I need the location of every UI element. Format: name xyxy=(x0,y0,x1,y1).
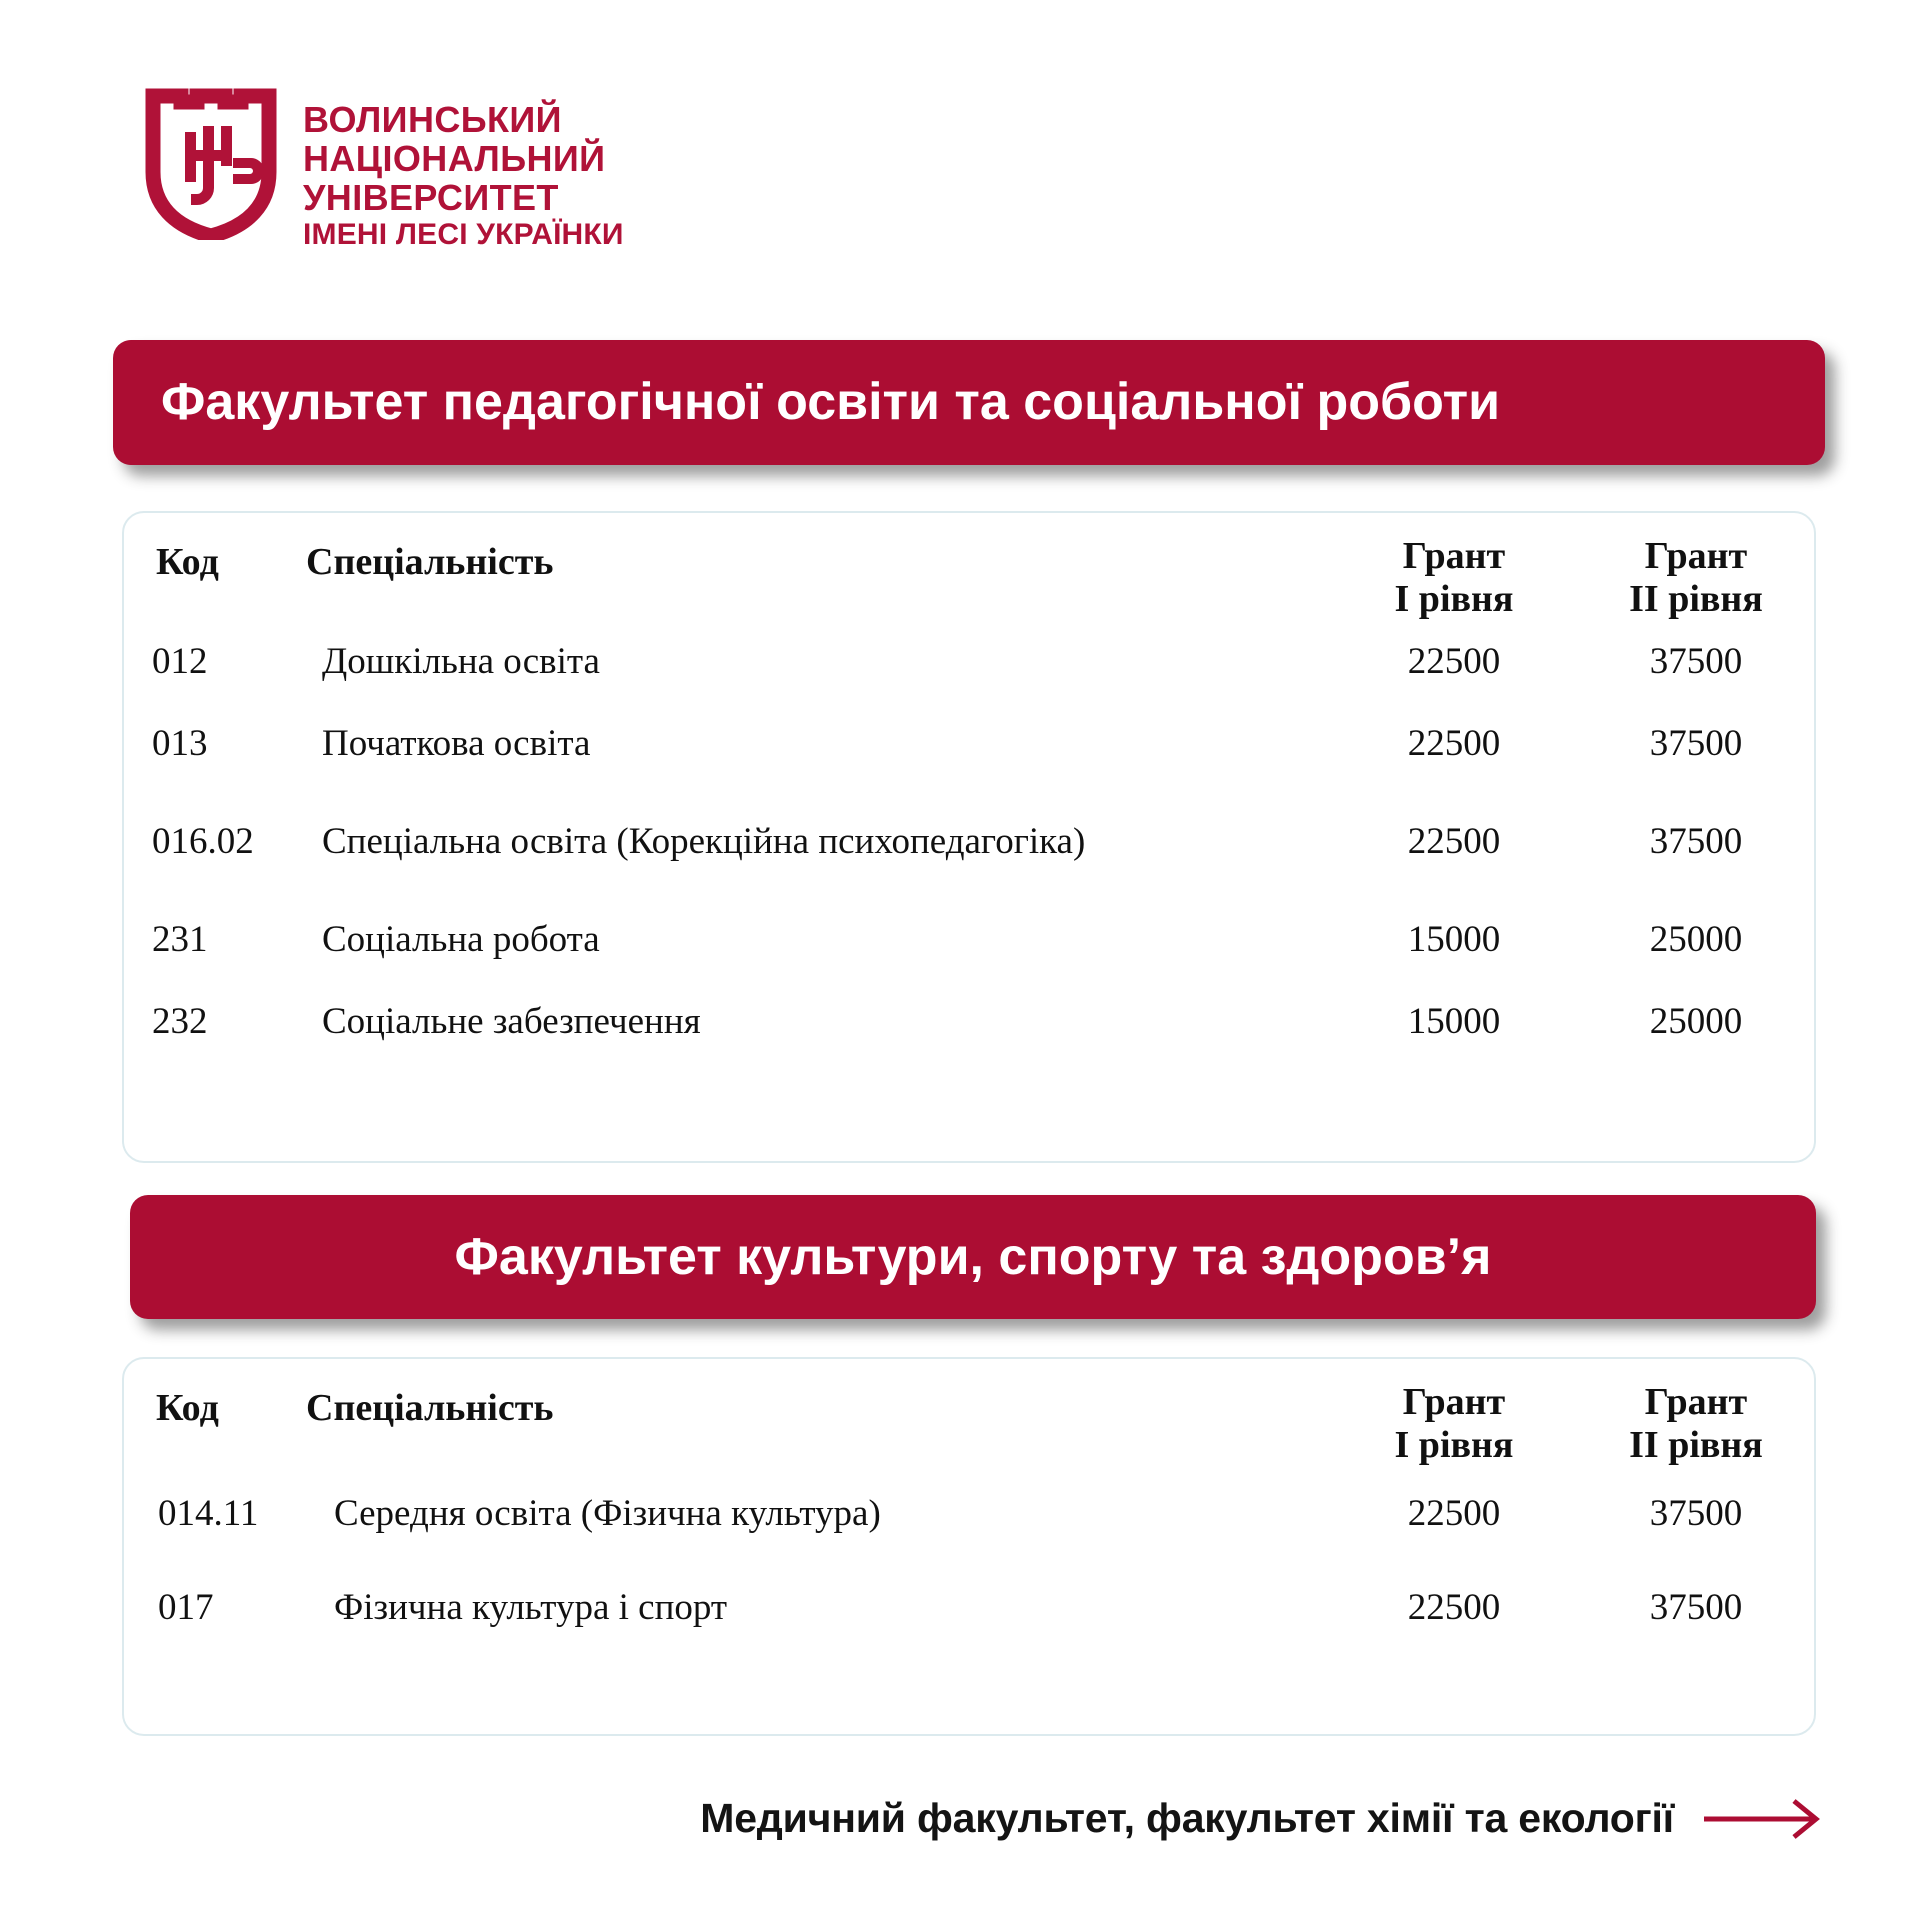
table-row: 231 Соціальна робота 15000 25000 xyxy=(124,898,1818,980)
cell-grant-level-2: 37500 xyxy=(1574,1560,1818,1654)
column-header-specialty: Спеціальність xyxy=(294,513,1334,620)
vnu-shield-crest-icon xyxy=(145,88,277,240)
cell-grant-level-2: 37500 xyxy=(1574,1466,1818,1560)
cell-code: 014.11 xyxy=(124,1466,294,1560)
cell-grant-level-1: 22500 xyxy=(1334,702,1574,784)
cell-specialty: Дошкільна освіта xyxy=(294,620,1334,702)
cell-specialty: Соціальна робота xyxy=(294,898,1334,980)
table-header-row: Код Спеціальність Грант I рівня Грант II… xyxy=(124,513,1818,620)
cell-code: 012 xyxy=(124,620,294,702)
column-header-grant-level-2: Грант II рівня xyxy=(1574,513,1818,620)
logo-line-2: НАЦІОНАЛЬНИЙ xyxy=(303,139,624,178)
faculty-banner-pedagogy: Факультет педагогічної освіти та соціаль… xyxy=(113,340,1825,465)
grant1-header-line2: I рівня xyxy=(1334,578,1574,621)
grant1-header-line1: Грант xyxy=(1334,1381,1574,1424)
table-header-row: Код Спеціальність Грант I рівня Грант II… xyxy=(124,1359,1818,1466)
grant2-header-line2: II рівня xyxy=(1574,578,1818,621)
cell-grant-level-1: 15000 xyxy=(1334,980,1574,1062)
table-row: 014.11 Середня освіта (Фізична культура)… xyxy=(124,1466,1818,1560)
cell-code: 232 xyxy=(124,980,294,1062)
table-row: 016.02 Спеціальна освіта (Корекційна пси… xyxy=(124,784,1818,898)
grant-table-card-culture-sport-health: Код Спеціальність Грант I рівня Грант II… xyxy=(122,1357,1816,1736)
cell-grant-level-1: 15000 xyxy=(1334,898,1574,980)
cell-code: 016.02 xyxy=(124,784,294,898)
grant2-header-line1: Грант xyxy=(1574,1381,1818,1424)
cell-grant-level-1: 22500 xyxy=(1334,1560,1574,1654)
cell-grant-level-1: 22500 xyxy=(1334,784,1574,898)
cell-grant-level-1: 22500 xyxy=(1334,620,1574,702)
column-header-grant-level-1: Грант I рівня xyxy=(1334,513,1574,620)
grant1-header-line2: I рівня xyxy=(1334,1424,1574,1467)
table-row: 012 Дошкільна освіта 22500 37500 xyxy=(124,620,1818,702)
logo-line-3: УНІВЕРСИТЕТ xyxy=(303,178,624,217)
grant2-header-line1: Грант xyxy=(1574,535,1818,578)
cell-specialty: Спеціальна освіта (Корекційна психопедаг… xyxy=(294,784,1334,898)
grant2-header-line2: II рівня xyxy=(1574,1424,1818,1467)
faculty-banner-culture-sport-health: Факультет культури, спорту та здоров’я xyxy=(130,1195,1816,1319)
column-header-code: Код xyxy=(124,1359,294,1466)
table-row: 232 Соціальне забезпечення 15000 25000 xyxy=(124,980,1818,1062)
arrow-right-icon[interactable] xyxy=(1702,1796,1824,1842)
grant1-header-line1: Грант xyxy=(1334,535,1574,578)
university-logo: ВОЛИНСЬКИЙ НАЦІОНАЛЬНИЙ УНІВЕРСИТЕТ ІМЕН… xyxy=(145,88,624,252)
table-row: 013 Початкова освіта 22500 37500 xyxy=(124,702,1818,784)
cell-specialty: Фізична культура і спорт xyxy=(294,1560,1334,1654)
logo-line-4: ІМЕНІ ЛЕСІ УКРАЇНКИ xyxy=(303,217,624,252)
cell-specialty: Соціальне забезпечення xyxy=(294,980,1334,1062)
cell-grant-level-2: 37500 xyxy=(1574,784,1818,898)
next-page-label: Медичний факультет, факультет хімії та е… xyxy=(700,1795,1674,1842)
cell-grant-level-2: 25000 xyxy=(1574,898,1818,980)
cell-specialty: Середня освіта (Фізична культура) xyxy=(294,1466,1334,1560)
column-header-grant-level-1: Грант I рівня xyxy=(1334,1359,1574,1466)
cell-grant-level-1: 22500 xyxy=(1334,1466,1574,1560)
cell-code: 013 xyxy=(124,702,294,784)
cell-grant-level-2: 37500 xyxy=(1574,702,1818,784)
infographic-page: ВОЛИНСЬКИЙ НАЦІОНАЛЬНИЙ УНІВЕРСИТЕТ ІМЕН… xyxy=(0,0,1920,1920)
grant-table: Код Спеціальність Грант I рівня Грант II… xyxy=(124,1359,1818,1654)
grant-table-card-pedagogy: Код Спеціальність Грант I рівня Грант II… xyxy=(122,511,1816,1163)
faculty-banner-title: Факультет культури, спорту та здоров’я xyxy=(455,1230,1492,1285)
cell-code: 231 xyxy=(124,898,294,980)
grant-table: Код Спеціальність Грант I рівня Грант II… xyxy=(124,513,1818,1062)
university-name: ВОЛИНСЬКИЙ НАЦІОНАЛЬНИЙ УНІВЕРСИТЕТ ІМЕН… xyxy=(303,88,624,252)
cell-code: 017 xyxy=(124,1560,294,1654)
logo-line-1: ВОЛИНСЬКИЙ xyxy=(303,100,624,139)
next-page-footer[interactable]: Медичний факультет, факультет хімії та е… xyxy=(0,1795,1920,1842)
cell-grant-level-2: 37500 xyxy=(1574,620,1818,702)
faculty-banner-title: Факультет педагогічної освіти та соціаль… xyxy=(161,375,1500,430)
cell-grant-level-2: 25000 xyxy=(1574,980,1818,1062)
column-header-specialty: Спеціальність xyxy=(294,1359,1334,1466)
column-header-code: Код xyxy=(124,513,294,620)
column-header-grant-level-2: Грант II рівня xyxy=(1574,1359,1818,1466)
cell-specialty: Початкова освіта xyxy=(294,702,1334,784)
table-row: 017 Фізична культура і спорт 22500 37500 xyxy=(124,1560,1818,1654)
